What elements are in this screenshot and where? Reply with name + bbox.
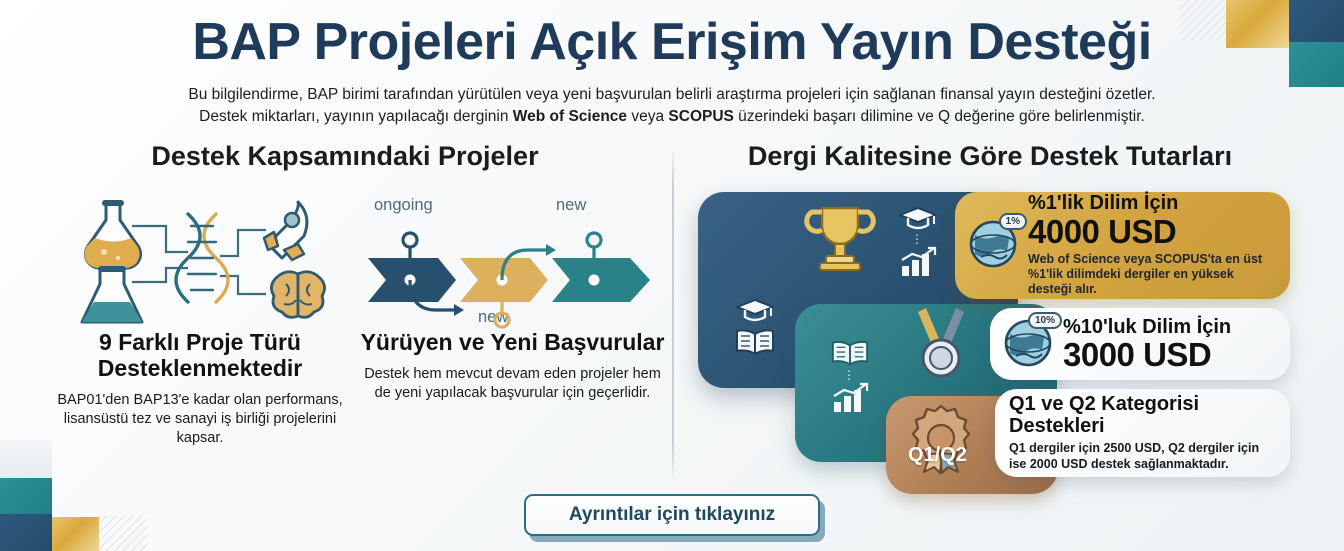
card-1-title: %1'lik Dilim İçin: [1028, 193, 1276, 215]
column-divider: [672, 146, 674, 484]
arrow-label-new-top: new: [556, 196, 586, 215]
card-1-text: %1'lik Dilim İçin 4000 USD Web of Scienc…: [1028, 193, 1276, 297]
science-icons-svg: [70, 190, 330, 330]
card-tier-1-percent[interactable]: 1% %1'lik Dilim İçin 4000 USD Web of Sci…: [955, 192, 1290, 299]
applications-description: Destek hem mevcut devam eden projeler he…: [360, 365, 665, 403]
card-3-description: Q1 dergiler için 2500 USD, Q2 dergiler i…: [1009, 441, 1278, 472]
projects-description: BAP01'den BAP13'e kadar olan performans,…: [45, 391, 355, 448]
left-block-applications: ongoing new new: [360, 190, 665, 403]
page-subtitle: Bu bilgilendirme, BAP birimi tarafından …: [62, 84, 1282, 129]
graduation-cap-icon: [898, 204, 938, 232]
subtitle-line-1: Bu bilgilendirme, BAP birimi tarafından …: [188, 86, 1155, 103]
card-1-description: Web of Science veya SCOPUS'ta en üst %1'…: [1028, 252, 1276, 298]
arrow-chevrons-svg: [362, 224, 662, 334]
brain-icon: [271, 272, 324, 318]
science-icon-cluster: [45, 190, 355, 330]
dna-icon: [176, 214, 228, 302]
card-2-amount: 3000 USD: [1063, 338, 1231, 371]
vertical-dots-1: ⋮: [911, 235, 925, 243]
left-block-projects: 9 Farklı Proje Türü Desteklenmektedir BA…: [45, 190, 355, 448]
navy-layer-icon-stack: ⋮: [898, 204, 938, 278]
card-tier-q1-q2[interactable]: Q1 ve Q2 Kategorisi Destekleri Q1 dergil…: [995, 389, 1290, 477]
badge-percent-10: 10%: [1028, 312, 1062, 329]
corner-hatch-bottom-left: [99, 515, 147, 551]
graduation-cap-icon-2: [735, 296, 775, 324]
card-3-title: Q1 ve Q2 Kategorisi Destekleri: [1009, 394, 1278, 437]
subtitle-line-2-part-b: veya: [627, 108, 668, 125]
flask-icon: [84, 200, 140, 268]
corner-square-navy-bottom-left: [0, 514, 52, 551]
globe-wrap-2: 10%: [1002, 316, 1054, 373]
details-button[interactable]: Ayrıntılar için tıklayınız: [524, 494, 820, 536]
subtitle-bold-web-of-science: Web of Science: [513, 108, 627, 125]
navy-layer-icon-stack-2: [734, 296, 776, 357]
open-book-icon-3: [830, 338, 870, 368]
projects-title: 9 Farklı Proje Türü Desteklenmektedir: [45, 330, 355, 382]
subtitle-bold-scopus: SCOPUS: [668, 108, 733, 125]
corner-square-teal-bottom-left: [0, 478, 52, 514]
open-book-icon: [734, 327, 776, 357]
rocket-icon: [264, 202, 307, 260]
card-2-text: %10'luk Dilim İçin 3000 USD: [1063, 317, 1231, 372]
vertical-dots-2: ⋮: [843, 371, 857, 379]
teal-layer-icon-stack: ⋮: [830, 338, 870, 414]
right-column-heading: Dergi Kalitesine Göre Destek Tutarları: [700, 141, 1280, 172]
card-tier-10-percent[interactable]: 10% %10'luk Dilim İçin 3000 USD: [990, 308, 1290, 380]
badge-percent-1: 1%: [999, 213, 1027, 230]
chevron-teal: [552, 258, 650, 302]
subtitle-line-2-part-c: üzerindeki başarı dilimine ve Q değerine…: [734, 108, 1145, 125]
step-badge-q1q2: Q1/Q2: [908, 444, 967, 467]
beaker-icon: [82, 266, 142, 322]
left-column-heading: Destek Kapsamındaki Projeler: [60, 141, 630, 172]
medal-icon: [908, 306, 974, 386]
arrow-label-ongoing: ongoing: [374, 196, 433, 215]
subtitle-line-2-part-a: Destek miktarları, yayının yapılacağı de…: [199, 108, 513, 125]
globe-wrap-1: 1%: [967, 217, 1019, 274]
corner-square-gold-bottom-left: [52, 517, 99, 551]
card-3-text: Q1 ve Q2 Kategorisi Destekleri Q1 dergil…: [1009, 394, 1278, 472]
arrow-flow-diagram: ongoing new new: [360, 190, 665, 330]
page-title: BAP Projeleri Açık Erişim Yayın Desteği: [0, 12, 1344, 72]
card-1-amount: 4000 USD: [1028, 215, 1276, 248]
card-2-title: %10'luk Dilim İçin: [1063, 317, 1231, 339]
bar-chart-icon-2: [830, 382, 870, 414]
trophy-icon: [800, 198, 880, 278]
bar-chart-icon: [898, 246, 938, 278]
